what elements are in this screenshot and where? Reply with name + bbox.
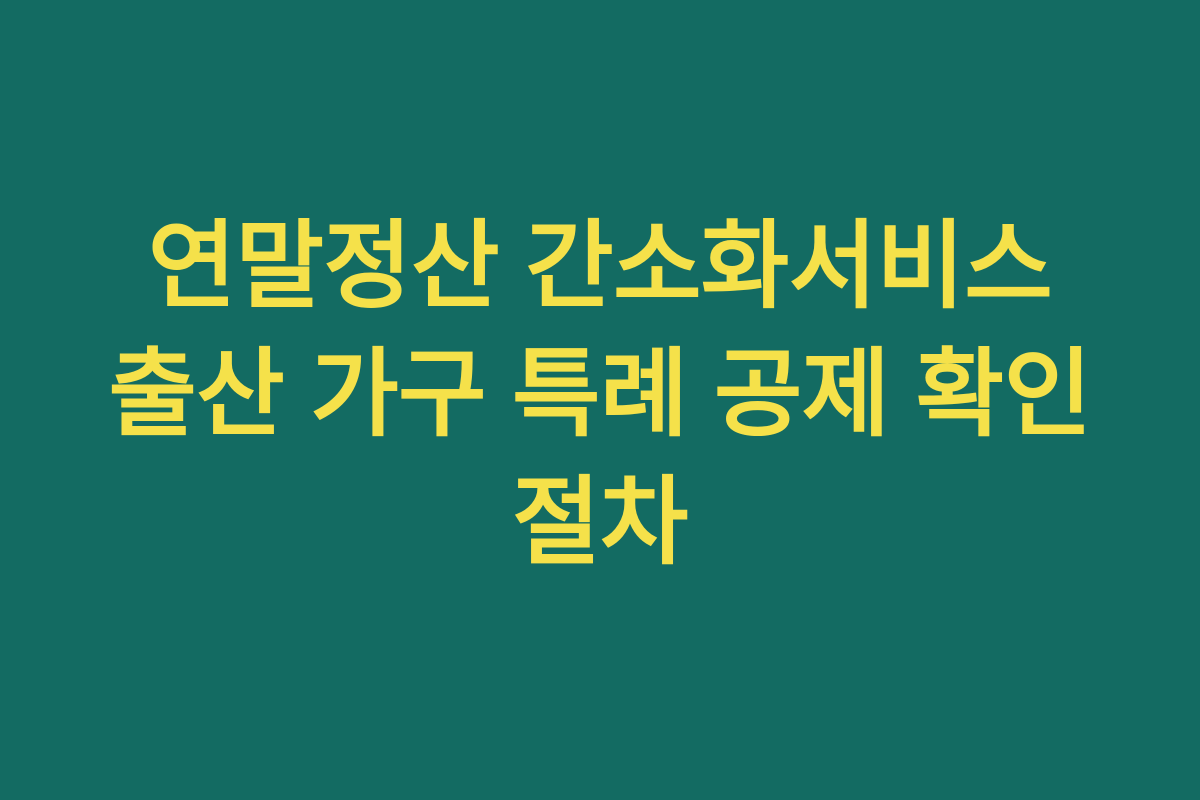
banner-text-block: 연말정산 간소화서비스 출산 가구 특례 공제 확인 절차	[100, 203, 1100, 587]
banner-canvas: 연말정산 간소화서비스 출산 가구 특례 공제 확인 절차	[0, 0, 1200, 800]
page-title: 연말정산 간소화서비스 출산 가구 특례 공제 확인 절차	[100, 203, 1100, 587]
